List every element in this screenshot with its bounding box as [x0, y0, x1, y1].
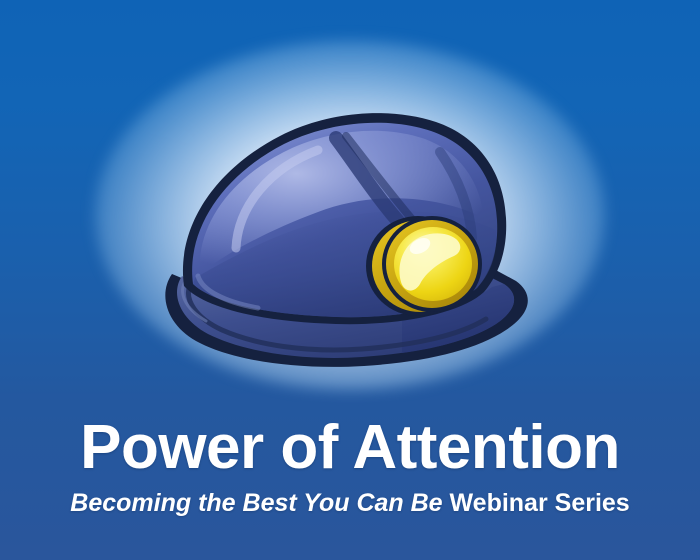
page-title: Power of Attention — [0, 417, 700, 479]
subtitle-emphasis: Becoming the Best You Can Be — [70, 489, 442, 517]
subtitle-plain: Webinar Series — [443, 489, 630, 517]
banner-text-block: Power of Attention Becoming the Best You… — [0, 417, 700, 516]
power-of-attention-banner: Power of Attention Becoming the Best You… — [0, 0, 700, 560]
banner-subtitle: Becoming the Best You Can Be Webinar Ser… — [0, 491, 700, 516]
hard-hat-illustration — [140, 78, 560, 368]
